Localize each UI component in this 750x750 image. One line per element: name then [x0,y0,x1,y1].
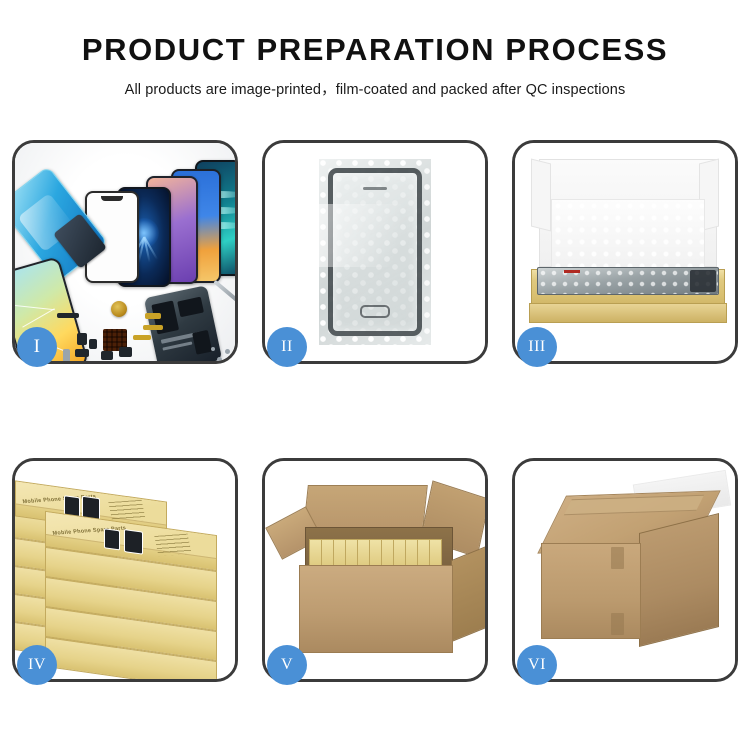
process-step-3: III [512,140,738,364]
home-button-cutout [360,305,390,318]
box-thumbnail-b2 [124,529,143,555]
page-subtitle: All products are image-printed，film-coat… [0,78,750,99]
step-3-image [515,143,735,361]
process-step-2: II [262,140,488,364]
screen-connector-end [690,270,716,292]
bubble-wrap-scene [265,143,485,361]
foam-padding [551,199,705,275]
process-step-6: VI [512,458,738,682]
step-badge-5: V [267,645,307,685]
box-spec-lines-b [154,534,191,557]
part-camera-module [101,351,113,360]
label-strip [564,270,580,273]
carton-seam-bottom [611,613,624,635]
part-screw-3 [211,347,215,351]
header: PRODUCT PREPARATION PROCESS All products… [0,0,750,99]
part-flex-2 [143,325,163,330]
sealed-carton-side [639,513,719,647]
part-sim-tray [63,349,70,361]
part-screw-2 [225,349,230,354]
step-badge-6: VI [517,645,557,685]
step-4-image: Mobile Phone Spare Parts Mobile Phone Sp… [15,461,235,679]
part-flex-1 [145,313,161,319]
carton-right-face [451,546,485,643]
bubble-wrapped-screen [319,159,431,345]
film-highlight [319,204,431,267]
part-speaker [111,301,127,317]
box-flap-left [531,159,551,232]
sealed-carton-front [541,543,641,639]
box-front-lip [529,303,727,323]
product-preparation-infographic: PRODUCT PREPARATION PROCESS All products… [0,0,750,750]
step-2-image [265,143,485,361]
open-carton-scene [265,461,485,679]
box-spec-lines-a [108,500,145,523]
part-screw-1 [217,357,222,361]
sealed-carton-scene [515,461,735,679]
step-badge-1: I [17,327,57,367]
step-badge-4: IV [17,645,57,685]
process-step-5: V [262,458,488,682]
process-step-4: Mobile Phone Spare Parts Mobile Phone Sp… [12,458,238,682]
part-bracket-3 [89,339,97,349]
step-badge-3: III [517,327,557,367]
stacked-boxes-scene: Mobile Phone Spare Parts Mobile Phone Sp… [15,461,235,679]
process-step-1: 08:08 [12,140,238,364]
step-6-image [515,461,735,679]
step-5-image [265,461,485,679]
page-title: PRODUCT PREPARATION PROCESS [0,34,750,65]
step-badge-2: II [267,327,307,367]
part-flex-3 [133,335,151,340]
wrapped-screen-in-box [537,267,719,295]
box-thumbnail-b1 [104,528,120,550]
carton-seam-top [611,547,624,569]
step-1-image: 08:08 [15,143,235,361]
part-bracket-2 [77,333,87,345]
part-battery-connector [119,347,132,357]
single-box-scene [515,143,735,361]
phones-and-parts-scene: 08:08 [15,143,235,361]
carton-front-face [299,565,453,653]
earpiece-slot [363,187,387,190]
process-step-grid: 08:08 [12,140,738,682]
part-bracket-4 [75,349,89,357]
part-bracket-1 [57,313,79,318]
